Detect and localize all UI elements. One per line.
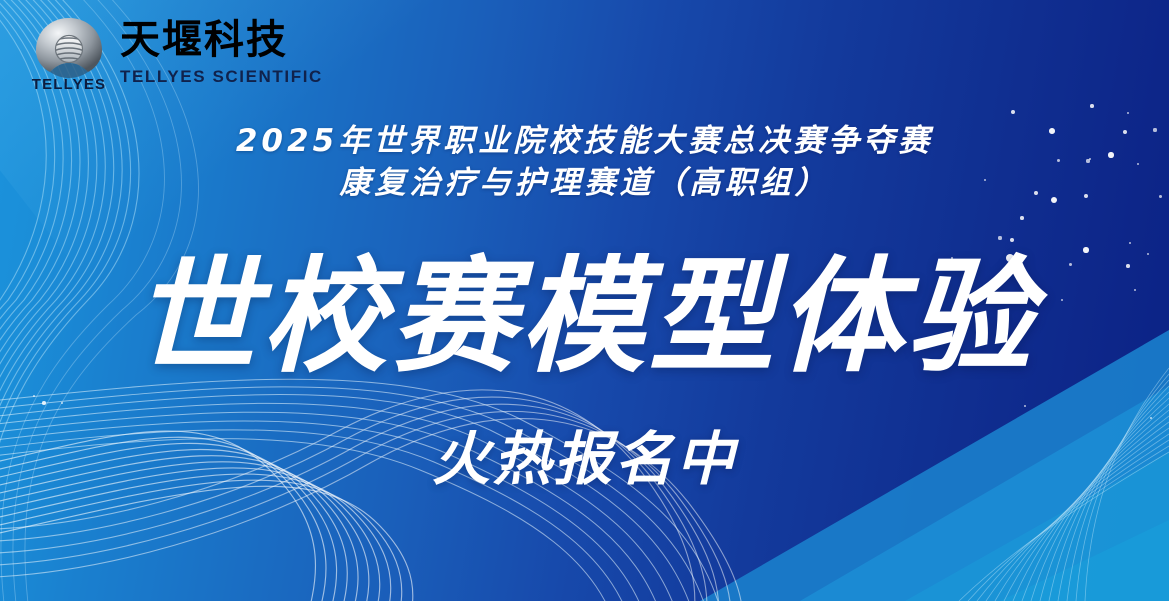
particle-dot bbox=[1090, 104, 1094, 108]
particle-dot bbox=[1150, 417, 1153, 420]
particle-dot bbox=[61, 402, 64, 405]
particle-dot bbox=[1011, 110, 1015, 114]
particle-dot bbox=[1127, 112, 1130, 115]
company-name-cn: 天堰科技 bbox=[120, 20, 323, 60]
particle-dot bbox=[1010, 238, 1014, 242]
registration-status-text: 火热报名中 bbox=[0, 424, 1169, 494]
particle-dot bbox=[42, 401, 46, 405]
particle-dot bbox=[998, 236, 1001, 239]
event-subtitle-line-1: 2025年世界职业院校技能大赛总决赛争夺赛 bbox=[0, 120, 1169, 162]
logo-mark-caption: TELLYES bbox=[30, 76, 108, 93]
company-name-en: TELLYES SCIENTIFIC bbox=[120, 67, 323, 87]
particle-dot bbox=[33, 395, 35, 397]
promo-banner: TELLYES 天堰科技 TELLYES SCIENTIFIC 2025年世界职… bbox=[0, 0, 1169, 601]
particle-dot bbox=[1020, 216, 1024, 220]
particle-dot bbox=[1024, 405, 1027, 408]
event-subtitle: 2025年世界职业院校技能大赛总决赛争夺赛 康复治疗与护理赛道（高职组） bbox=[0, 120, 1169, 204]
event-subtitle-line-2: 康复治疗与护理赛道（高职组） bbox=[0, 162, 1169, 204]
tellyes-sphere-icon: TELLYES bbox=[30, 16, 108, 96]
page-title: 世校赛模型体验 bbox=[0, 243, 1169, 393]
brand-logo: TELLYES 天堰科技 TELLYES SCIENTIFIC bbox=[30, 16, 323, 96]
